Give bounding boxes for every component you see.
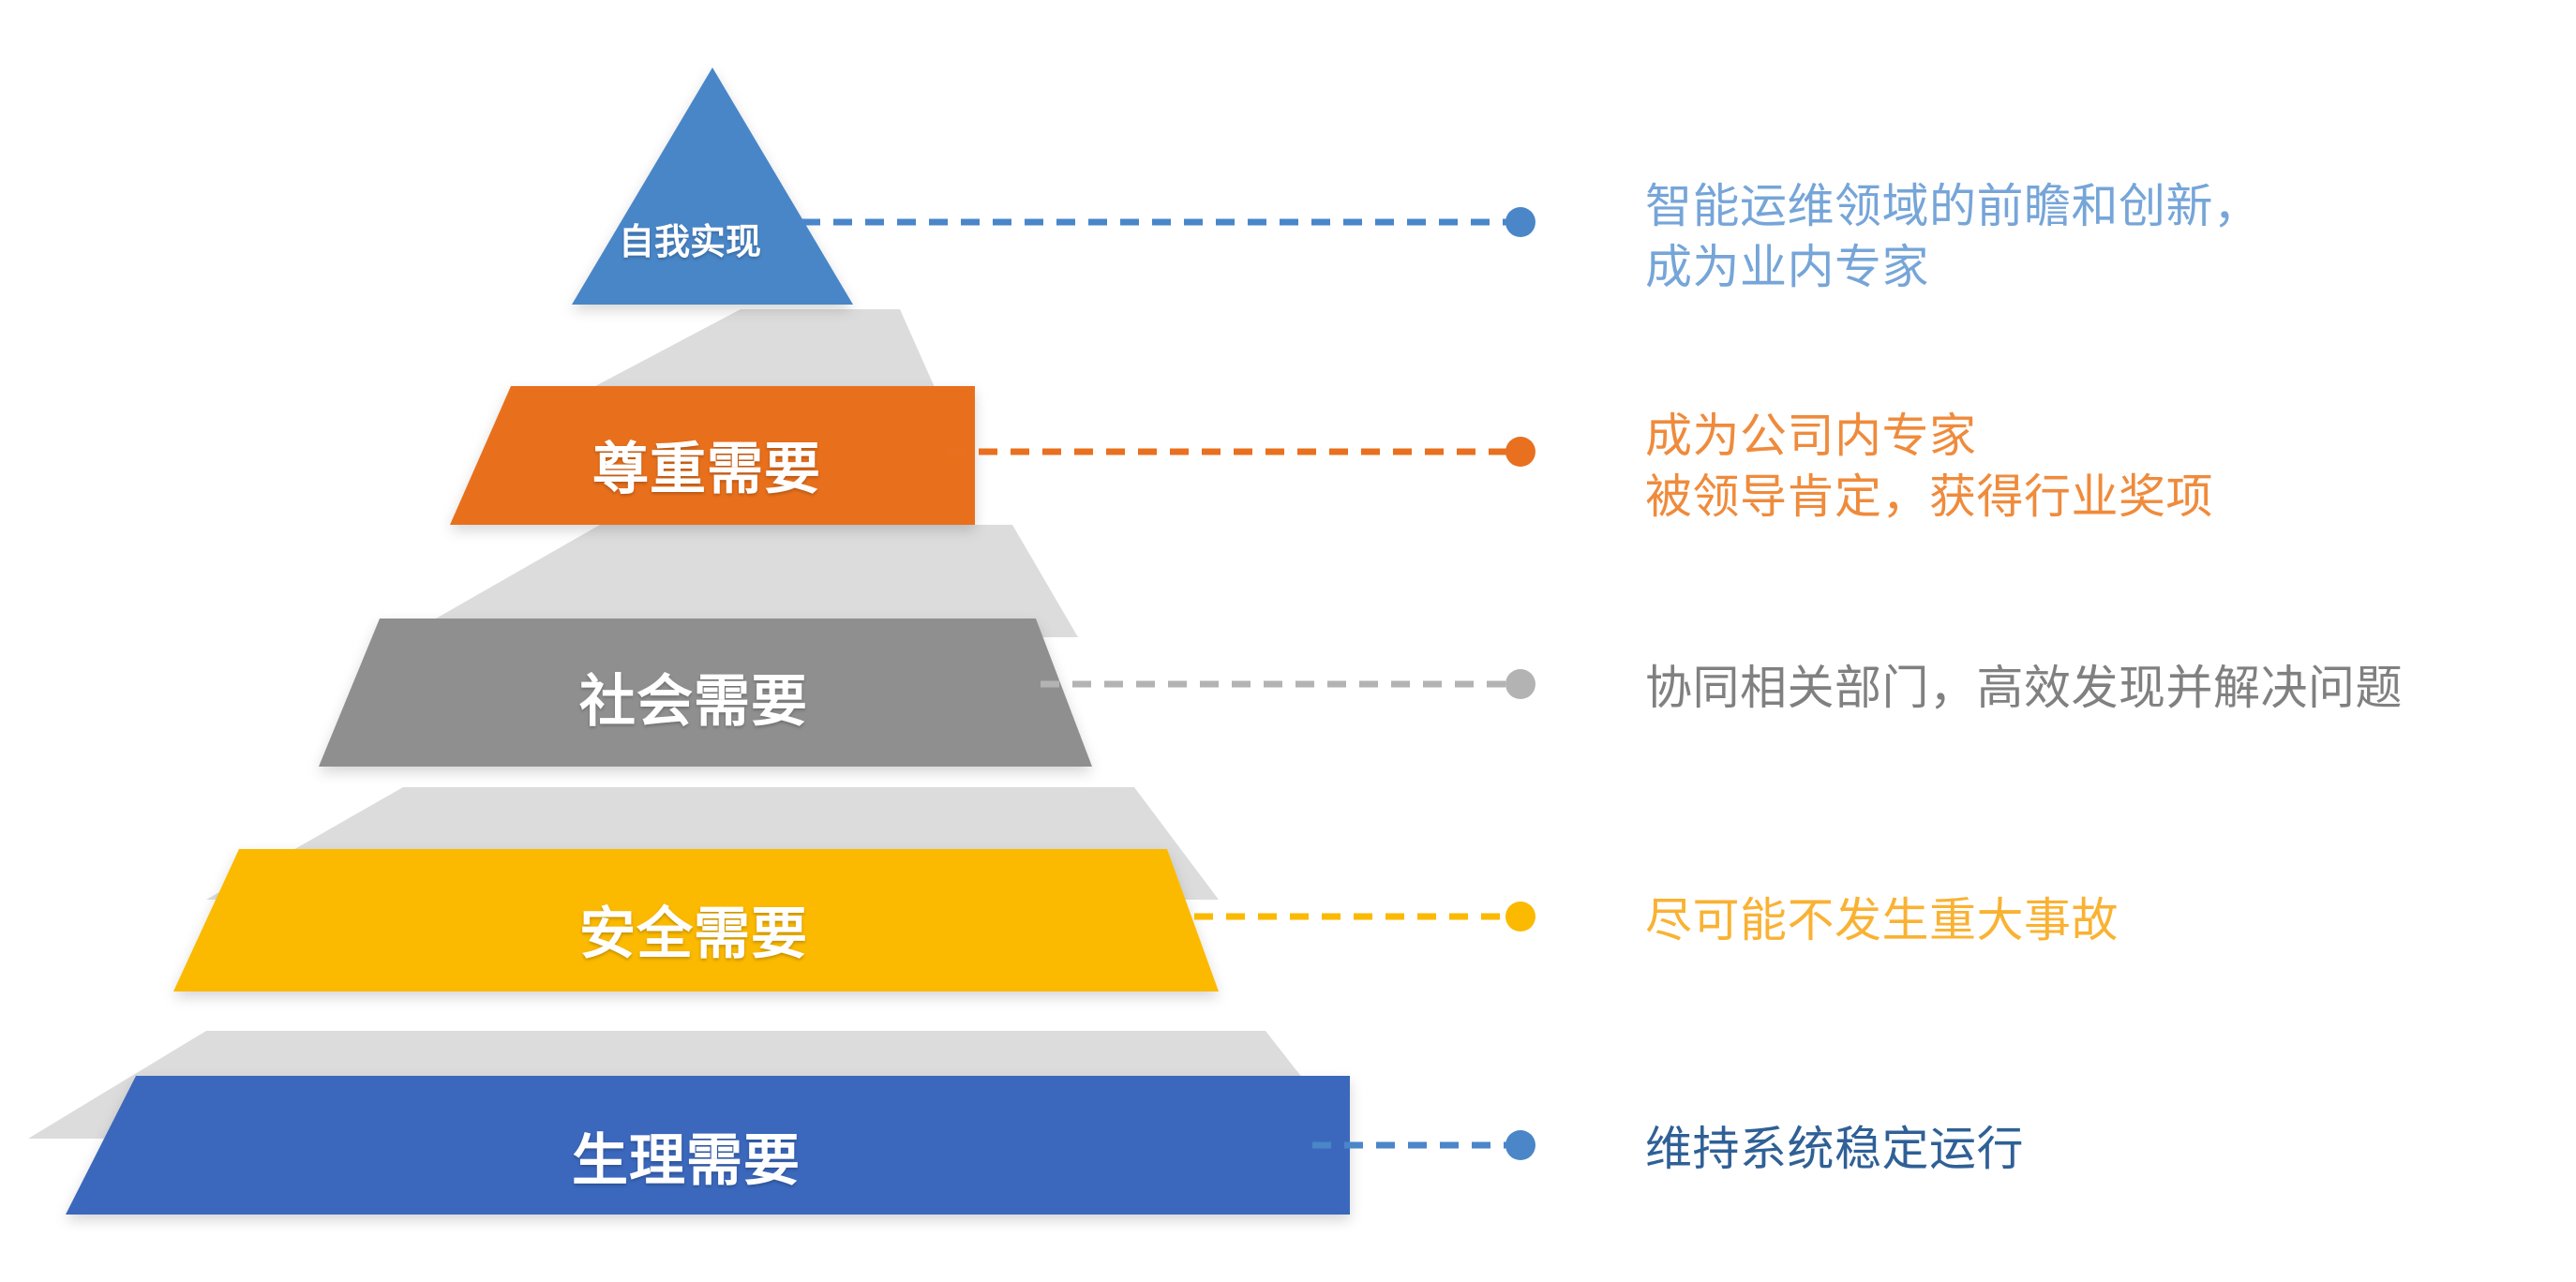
tier-shape-esteem[interactable]: [450, 386, 975, 525]
tier-shape-self-actualization[interactable]: [572, 67, 853, 305]
tier-description-physiological: 维持系统稳定运行: [1645, 1119, 2024, 1180]
connector-safety: [1162, 902, 1535, 932]
tier-shape-physiological[interactable]: [66, 1076, 1350, 1215]
tier-description-self-actualization: 智能运维领域的前瞻和创新， 成为业内专家: [1645, 176, 2261, 298]
tier-description-safety: 尽可能不发生重大事故: [1645, 890, 2119, 951]
tier-description-esteem: 成为公司内专家 被领导肯定，获得行业奖项: [1645, 406, 2213, 528]
pyramid-diagram: 自我实现 尊重需要 社会需要 安全需要 生理需要 智能运维领域的前瞻和创新， 成…: [0, 0, 2576, 1282]
tier-shape-social[interactable]: [319, 619, 1092, 767]
connector-self-actualization: [801, 207, 1535, 237]
connector-esteem: [947, 437, 1535, 467]
tier-description-social: 协同相关部门，高效发现并解决问题: [1645, 658, 2403, 719]
connector-social: [1041, 669, 1535, 699]
tier-shape-safety[interactable]: [173, 849, 1219, 991]
